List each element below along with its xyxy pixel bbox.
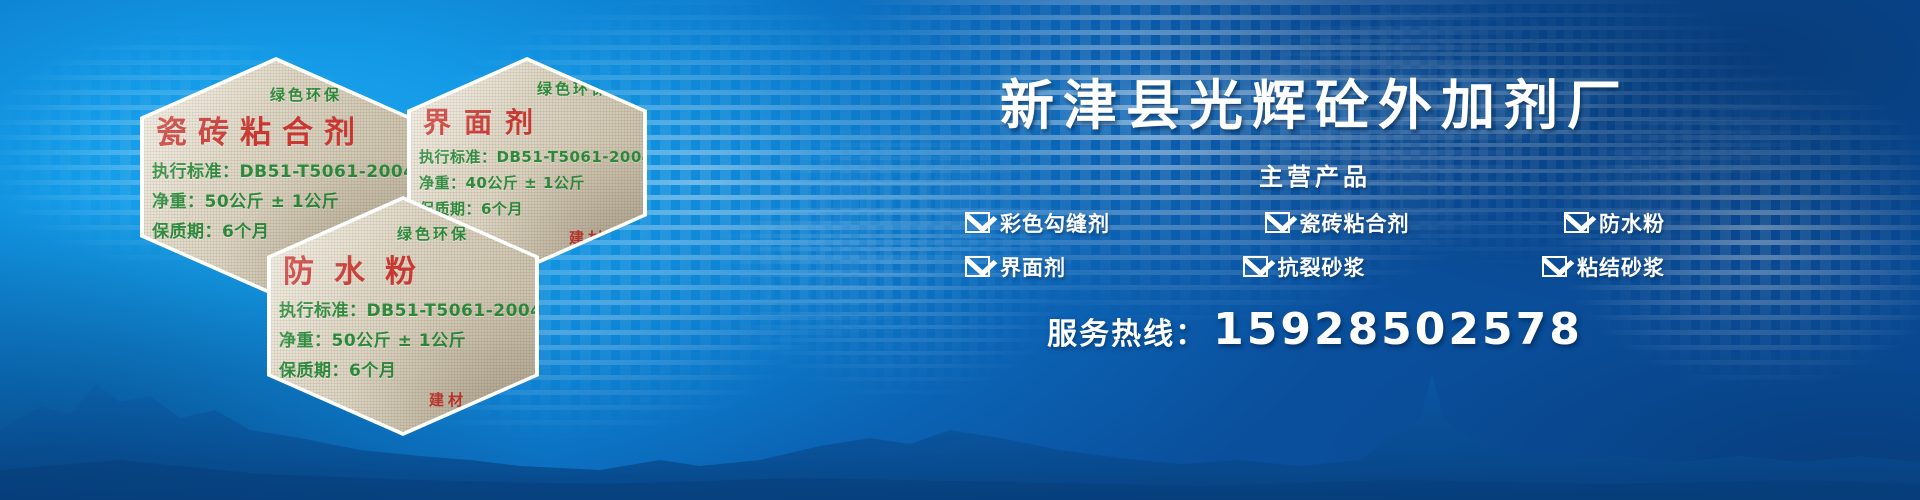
product-item-0[interactable]: 彩色勾缝剂 bbox=[965, 208, 1110, 238]
hotline-label: 服务热线： bbox=[1047, 309, 1207, 353]
product-item-5[interactable]: 粘结砂浆 bbox=[1542, 252, 1665, 282]
company-name-title: 新津县光辉砼外加剂厂 bbox=[735, 78, 1895, 135]
bag-footer: 建材 bbox=[569, 227, 643, 248]
banner-copy-block: 新津县光辉砼外加剂厂 主营产品 彩色勾缝剂 瓷砖粘合剂 防水粉 bbox=[735, 60, 1895, 380]
bag-shelf-life: 保质期：6个月 bbox=[419, 198, 643, 219]
bag-weight: 净重：40公斤 ± 1公斤 bbox=[419, 172, 643, 193]
product-bag-hex-cluster: 绿色环保 瓷砖粘合剂 执行标准：DB51-T5061-2004 净重：50公斤 … bbox=[0, 0, 700, 420]
bag-shelf-life: 保质期：6个月 bbox=[279, 356, 535, 381]
bag-eco-tag: 绿色环保 bbox=[270, 84, 408, 105]
product-label: 防水粉 bbox=[1599, 208, 1665, 238]
product-row: 界面剂 抗裂砂浆 粘结砂浆 bbox=[965, 252, 1665, 282]
product-item-4[interactable]: 抗裂砂浆 bbox=[1243, 252, 1366, 282]
bag-weight: 净重：50公斤 ± 1公斤 bbox=[279, 326, 535, 351]
promo-banner: 绿色环保 瓷砖粘合剂 执行标准：DB51-T5061-2004 净重：50公斤 … bbox=[0, 0, 1920, 500]
checkbox-checked-icon bbox=[965, 256, 990, 277]
bag-standard: 执行标准：DB51-T5061-2004 bbox=[279, 296, 535, 321]
bag-weight: 净重：50公斤 ± 1公斤 bbox=[152, 187, 408, 212]
checkbox-checked-icon bbox=[1265, 212, 1290, 233]
product-item-3[interactable]: 界面剂 bbox=[965, 252, 1066, 282]
product-label: 瓷砖粘合剂 bbox=[1300, 208, 1410, 238]
product-list: 彩色勾缝剂 瓷砖粘合剂 防水粉 界面剂 抗裂砂浆 bbox=[965, 208, 1665, 282]
bag-standard: 执行标准：DB51-T5061-2004 bbox=[419, 146, 643, 167]
bag-product-name: 瓷砖粘合剂 bbox=[156, 107, 408, 152]
product-label: 粘结砂浆 bbox=[1577, 252, 1665, 282]
bag-product-name: 防水粉 bbox=[283, 246, 535, 291]
hotline-number[interactable]: 15928502578 bbox=[1213, 304, 1583, 355]
bag-product-name: 界面剂 bbox=[423, 101, 643, 141]
bag-standard: 执行标准：DB51-T5061-2004 bbox=[152, 157, 408, 182]
checkbox-checked-icon bbox=[965, 212, 990, 233]
product-label: 界面剂 bbox=[1000, 252, 1066, 282]
main-products-subtitle: 主营产品 bbox=[735, 157, 1895, 192]
product-item-1[interactable]: 瓷砖粘合剂 bbox=[1265, 208, 1410, 238]
bag-footer: 建材 bbox=[429, 389, 535, 410]
product-row: 彩色勾缝剂 瓷砖粘合剂 防水粉 bbox=[965, 208, 1665, 238]
product-label: 彩色勾缝剂 bbox=[1000, 208, 1110, 238]
product-label: 抗裂砂浆 bbox=[1278, 252, 1366, 282]
bag-eco-tag: 绿色环保 bbox=[537, 78, 643, 99]
checkbox-checked-icon bbox=[1243, 256, 1268, 277]
checkbox-checked-icon bbox=[1564, 212, 1589, 233]
checkbox-checked-icon bbox=[1542, 256, 1567, 277]
product-item-2[interactable]: 防水粉 bbox=[1564, 208, 1665, 238]
service-hotline: 服务热线： 15928502578 bbox=[735, 304, 1895, 355]
